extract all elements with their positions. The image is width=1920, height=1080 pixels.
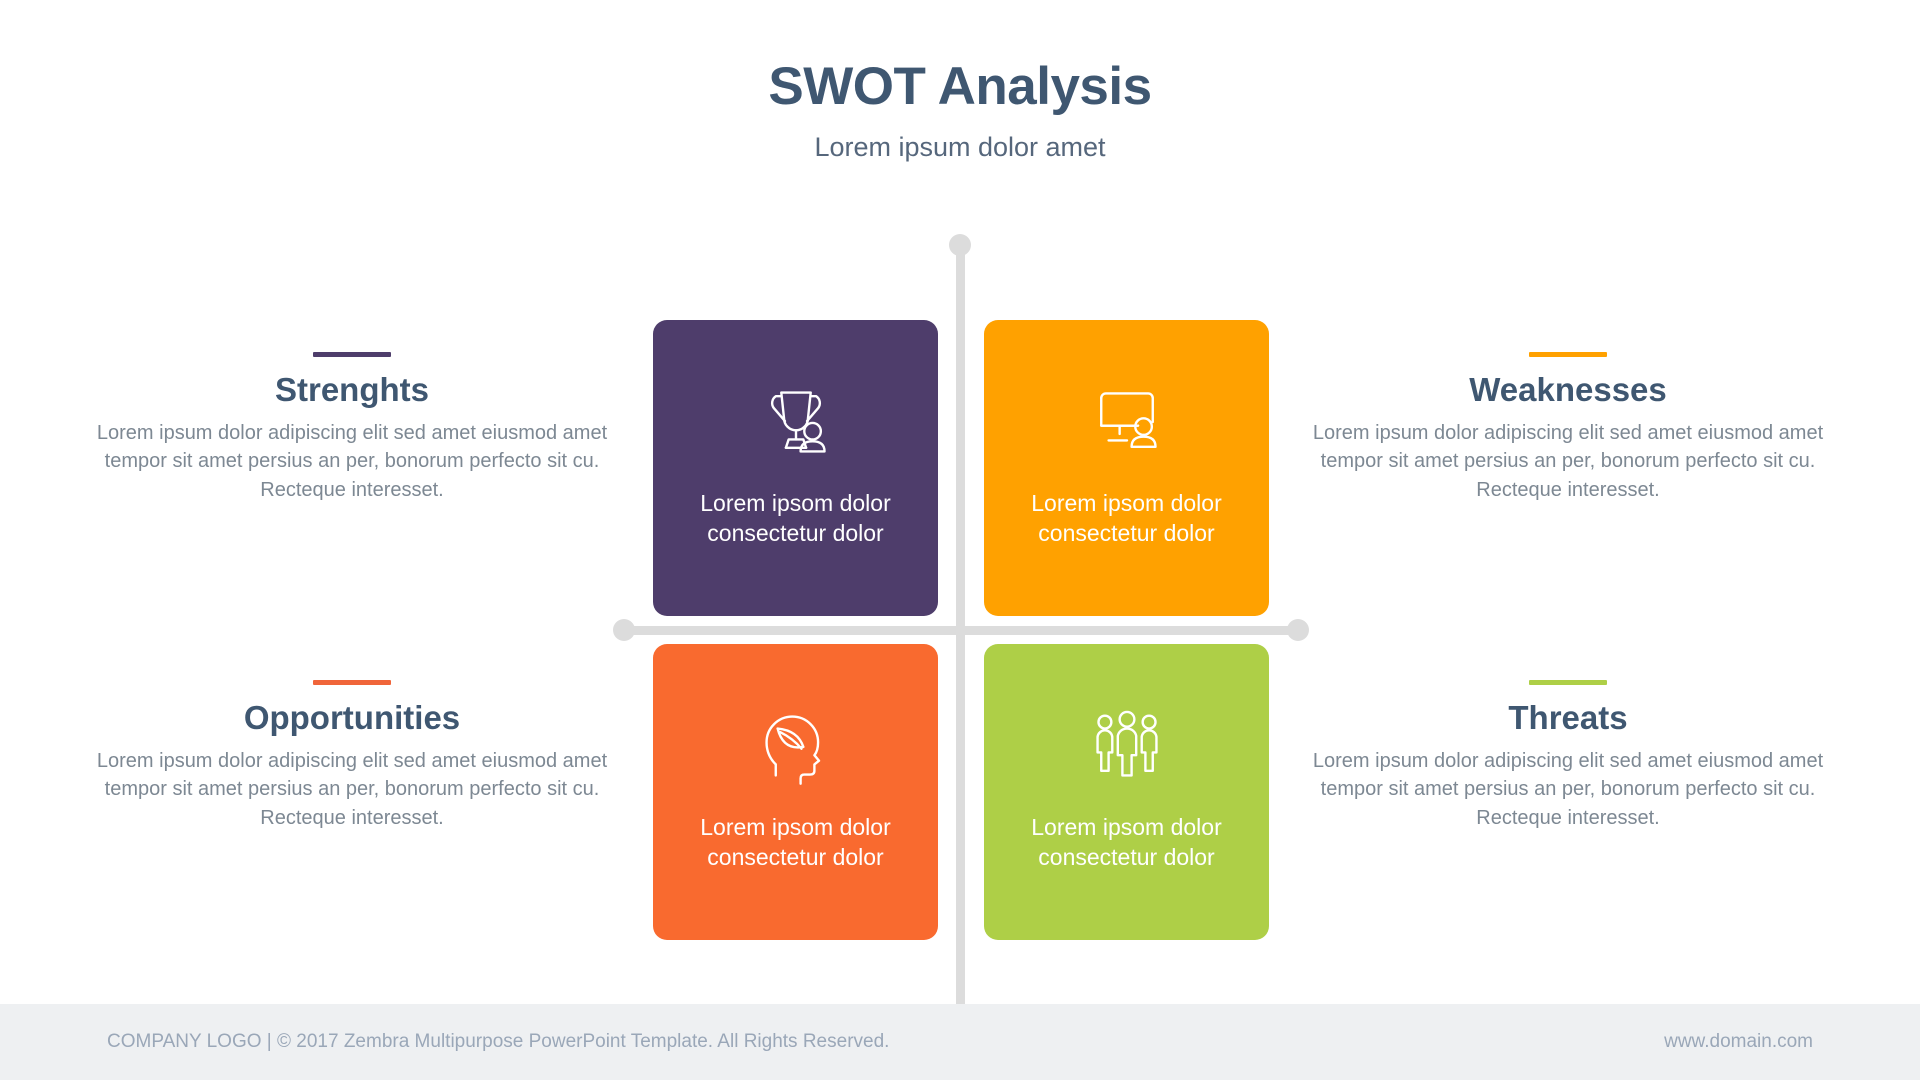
panel-title-opportunities: Opportunities: [92, 699, 612, 737]
slide-header: SWOT Analysis Lorem ipsum dolor amet: [0, 58, 1920, 164]
card-text-opportunities: Lorem ipsom dolor consectetur dolor: [700, 812, 890, 873]
panel-rule-opportunities: [313, 680, 391, 685]
divider-dot-top: [949, 234, 971, 256]
divider-horizontal: [622, 626, 1300, 635]
card-opportunities[interactable]: Lorem ipsom dolor consectetur dolor: [653, 644, 938, 940]
page-subtitle: Lorem ipsum dolor amet: [0, 131, 1920, 163]
monitor-person-icon: [1081, 376, 1173, 468]
panel-body-strengths: Lorem ipsum dolor adipiscing elit sed am…: [92, 419, 612, 504]
slide-canvas: SWOT Analysis Lorem ipsum dolor amet Str…: [0, 0, 1920, 1080]
panel-body-weaknesses: Lorem ipsum dolor adipiscing elit sed am…: [1308, 419, 1828, 504]
panel-body-opportunities: Lorem ipsum dolor adipiscing elit sed am…: [92, 747, 612, 832]
panel-strengths: Strenghts Lorem ipsum dolor adipiscing e…: [92, 352, 612, 504]
panel-title-weaknesses: Weaknesses: [1308, 371, 1828, 409]
panel-title-strengths: Strenghts: [92, 371, 612, 409]
card-text-weaknesses: Lorem ipsom dolor consectetur dolor: [1031, 488, 1221, 549]
divider-dot-right: [1287, 619, 1309, 641]
trophy-person-icon: [750, 376, 842, 468]
panel-weaknesses: Weaknesses Lorem ipsum dolor adipiscing …: [1308, 352, 1828, 504]
footer-copyright: COMPANY LOGO | © 2017 Zembra Multipurpos…: [107, 1031, 889, 1053]
panel-title-threats: Threats: [1308, 699, 1828, 737]
group-people-icon: [1081, 700, 1173, 792]
card-threats[interactable]: Lorem ipsom dolor consectetur dolor: [984, 644, 1269, 940]
card-text-strengths: Lorem ipsom dolor consectetur dolor: [700, 488, 890, 549]
divider-dot-left: [613, 619, 635, 641]
card-weaknesses[interactable]: Lorem ipsom dolor consectetur dolor: [984, 320, 1269, 616]
slide-footer: COMPANY LOGO | © 2017 Zembra Multipurpos…: [0, 1004, 1920, 1080]
panel-rule-threats: [1529, 680, 1607, 685]
card-strengths[interactable]: Lorem ipsom dolor consectetur dolor: [653, 320, 938, 616]
footer-website-link[interactable]: www.domain.com: [1664, 1031, 1813, 1053]
head-leaf-icon: [750, 700, 842, 792]
panel-threats: Threats Lorem ipsum dolor adipiscing eli…: [1308, 680, 1828, 832]
panel-rule-weaknesses: [1529, 352, 1607, 357]
swot-matrix: Lorem ipsom dolor consectetur dolor Lore…: [653, 320, 1269, 940]
panel-body-threats: Lorem ipsum dolor adipiscing elit sed am…: [1308, 747, 1828, 832]
card-text-threats: Lorem ipsom dolor consectetur dolor: [1031, 812, 1221, 873]
page-title: SWOT Analysis: [0, 58, 1920, 115]
panel-opportunities: Opportunities Lorem ipsum dolor adipisci…: [92, 680, 612, 832]
panel-rule-strengths: [313, 352, 391, 357]
